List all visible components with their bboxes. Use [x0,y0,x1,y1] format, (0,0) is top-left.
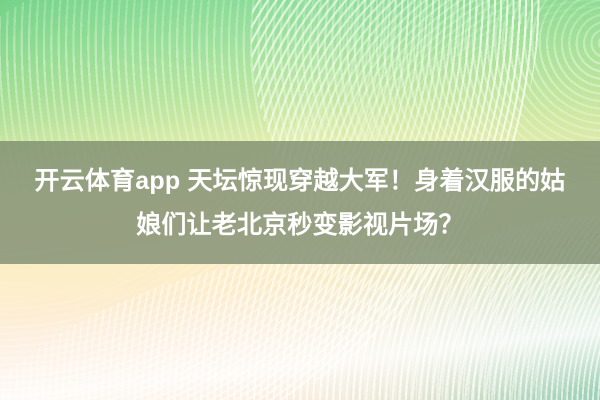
title-line-1: 开云体育app 天坛惊现穿越大军！身着汉服的姑 [35,159,566,203]
title-line-2: 娘们让老北京秒变影视片场？ [136,203,464,247]
title-overlay-band: 开云体育app 天坛惊现穿越大军！身着汉服的姑 娘们让老北京秒变影视片场？ [0,141,600,264]
decorative-banner: 开云体育app 天坛惊现穿越大军！身着汉服的姑 娘们让老北京秒变影视片场？ [0,0,600,400]
